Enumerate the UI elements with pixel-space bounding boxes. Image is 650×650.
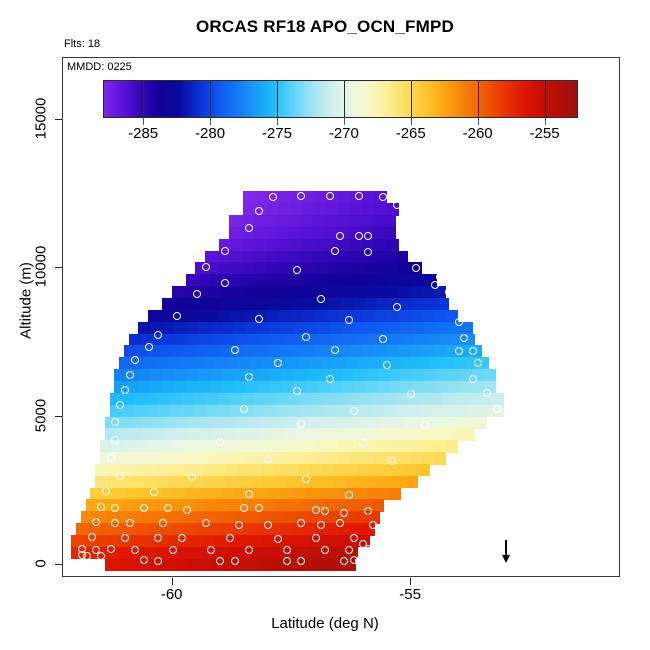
heatmap-cell [279,452,292,464]
heatmap-cell [272,334,285,346]
heatmap-cell [431,393,444,405]
heatmap-cell [410,452,423,464]
heatmap-cell [396,405,409,417]
heatmap-cell [331,334,344,346]
x-axis-title: Latitude (deg N) [0,615,650,632]
heatmap-cell [319,559,332,571]
heatmap-cell [198,274,211,286]
sample-point-marker [374,534,382,542]
heatmap-cell [400,298,413,310]
colorbar-tick-label: -285 [128,125,158,142]
heatmap-cell [210,298,223,310]
heatmap-cell [338,203,351,215]
heatmap-cell [348,393,361,405]
heatmap-cell [358,464,371,476]
sample-point-marker [245,373,253,381]
heatmap-cell [327,262,340,274]
heatmap-cell [436,369,449,381]
heatmap-cell [143,476,156,488]
heatmap-cell [374,440,387,452]
heatmap-cell [319,428,332,440]
heatmap-cell [172,452,185,464]
colorbar-divider [210,80,211,118]
sample-point-marker [255,504,263,512]
colorbar-divider [143,80,144,118]
heatmap-cell [441,357,454,369]
heatmap-cell [172,286,185,298]
heatmap-cell [274,464,287,476]
heatmap-cell [195,440,208,452]
heatmap-cell [403,417,416,429]
heatmap-cell [327,203,340,215]
sample-point-marker [464,442,472,450]
heatmap-cell [400,322,413,334]
heatmap-cell [162,369,175,381]
heatmap-cell [250,464,263,476]
heatmap-cell [327,310,340,322]
heatmap-cell [129,417,142,429]
heatmap-cell [141,511,154,523]
heatmap-cell [281,298,294,310]
heatmap-cell [386,440,399,452]
heatmap-cell [412,369,425,381]
heatmap-cell [386,286,399,298]
heatmap-cell [374,203,387,215]
heatmap-cell [269,274,282,286]
heatmap-cell [129,334,142,346]
heatmap-cell [141,417,154,429]
heatmap-cell [291,345,304,357]
heatmap-cell [248,334,261,346]
heatmap-cell [284,417,297,429]
heatmap-cell [374,262,387,274]
heatmap-cell [181,405,194,417]
heatmap-cell [121,499,134,511]
heatmap-cell [205,393,218,405]
heatmap-cell [443,405,456,417]
heatmap-cell [262,357,275,369]
heatmap-cell [257,488,270,500]
heatmap-cell [276,227,289,239]
heatmap-cell [336,405,349,417]
sample-point-marker [245,546,253,554]
heatmap-cell [300,393,313,405]
heatmap-cell [398,440,411,452]
heatmap-cell [312,393,325,405]
heatmap-cell [374,286,387,298]
heatmap-cell [200,559,213,571]
heatmap-cell [207,310,220,322]
sample-point-marker [264,521,272,529]
flights-annotation: Flts: 18 [64,38,100,50]
heatmap-cell [214,476,227,488]
heatmap-cell [155,464,168,476]
heatmap-cell [365,488,378,500]
heatmap-cell [269,322,282,334]
heatmap-cell [377,274,390,286]
heatmap-cell [369,357,382,369]
heatmap-cell [255,286,268,298]
heatmap-cell [136,452,149,464]
heatmap-cell [183,440,196,452]
heatmap-cell [253,215,266,227]
heatmap-cell [365,381,378,393]
heatmap-cell [393,476,406,488]
heatmap-cell [257,298,270,310]
heatmap-cell [391,417,404,429]
heatmap-cell [310,464,323,476]
heatmap-cell [214,357,227,369]
colorbar[interactable] [103,80,578,118]
sample-point-marker [202,263,210,271]
heatmap-cell [212,417,225,429]
heatmap-cell [398,310,411,322]
heatmap-cell [276,251,289,263]
heatmap-cell [279,203,292,215]
heatmap-cell [434,345,447,357]
heatmap-cell [288,227,301,239]
heatmap-cell [424,369,437,381]
sample-point-marker [293,266,301,274]
heatmap-cell [279,523,292,535]
sample-point-marker [398,217,406,225]
heatmap-cell [329,298,342,310]
heatmap-cell [389,274,402,286]
heatmap-cell [272,511,285,523]
heatmap-cell [334,476,347,488]
sample-point-marker [355,557,363,565]
heatmap-cell [224,511,237,523]
heatmap-cell [260,417,273,429]
heatmap-cell [317,274,330,286]
sample-point-marker [231,346,239,354]
heatmap-cell [255,191,268,203]
heatmap-cell [145,405,158,417]
colorbar-divider [478,80,479,118]
heatmap-cell [284,334,297,346]
heatmap-cell [360,405,373,417]
heatmap-cell [307,428,320,440]
heatmap-cell [315,345,328,357]
heatmap-cell [300,405,313,417]
heatmap-cell [217,393,230,405]
heatmap-cell [374,239,387,251]
heatmap-cell [422,440,435,452]
sample-point-marker [88,533,96,541]
colorbar-tick-label: -255 [530,125,560,142]
heatmap-cell [181,393,194,405]
heatmap-cell [279,440,292,452]
heatmap-cell [231,452,244,464]
heatmap-cell [141,428,154,440]
heatmap-cell [162,322,175,334]
heatmap-cell [288,251,301,263]
heatmap-cell [412,274,425,286]
heatmap-cell [267,239,280,251]
heatmap-cell [231,440,244,452]
heatmap-cell [150,381,163,393]
heatmap-cell [377,488,390,500]
sample-point-marker [426,253,434,261]
heatmap-cell [384,405,397,417]
heatmap-cell [446,440,459,452]
heatmap-cell [243,286,256,298]
heatmap-cell [162,381,175,393]
heatmap-cell [272,428,285,440]
sample-point-marker [312,506,320,514]
heatmap-cell [307,417,320,429]
heatmap-cell [226,476,239,488]
heatmap-cell [386,262,399,274]
heatmap-cell [131,464,144,476]
heatmap-cell [183,345,196,357]
heatmap-cell [183,452,196,464]
heatmap-cell [327,452,340,464]
heatmap-cell [338,239,351,251]
heatmap-cell [312,227,325,239]
y-axis-tick-label: 0 [33,533,50,593]
heatmap-cell [150,369,163,381]
heatmap-cell [119,357,132,369]
heatmap-cell [243,345,256,357]
heatmap-cell [448,381,461,393]
heatmap-cell [341,369,354,381]
heatmap-cell [303,452,316,464]
colorbar-tick-label: -280 [195,125,225,142]
heatmap-cell [346,464,359,476]
heatmap-cell [257,274,270,286]
heatmap-cell [348,251,361,263]
heatmap-cell [400,274,413,286]
heatmap-cell [267,286,280,298]
plot-root: ORCAS RF18 APO_OCN_FMPD Flts: 18 MMDD: 0… [0,0,650,650]
heatmap-cell [439,334,452,346]
heatmap-cell [455,405,468,417]
heatmap-cell [186,298,199,310]
arrow-head [502,555,510,563]
heatmap-cell [436,381,449,393]
heatmap-cell [224,334,237,346]
heatmap-cell [377,381,390,393]
heatmap-cell [224,428,237,440]
heatmap-cell [191,547,204,559]
heatmap-cell [174,322,187,334]
heatmap-cell [439,417,452,429]
heatmap-cell [384,227,397,239]
heatmap-cell [124,452,137,464]
heatmap-cell [324,405,337,417]
heatmap-cell [248,559,261,571]
heatmap-cell [279,262,292,274]
heatmap-cell [291,239,304,251]
sample-point-marker [350,407,358,415]
heatmap-cell [203,357,216,369]
heatmap-cell [203,464,216,476]
heatmap-cell [172,440,185,452]
heatmap-cell [374,345,387,357]
page-title: ORCAS RF18 APO_OCN_FMPD [0,17,650,37]
heatmap-cell [424,322,437,334]
heatmap-cell [245,322,258,334]
heatmap-cell [255,345,268,357]
sample-point-marker [293,387,301,395]
heatmap-cell [243,452,256,464]
heatmap-cell [436,322,449,334]
heatmap-cell [315,310,328,322]
heatmap-cell [126,488,139,500]
heatmap-cell [422,452,435,464]
heatmap-cell [422,310,435,322]
sample-point-marker [455,318,463,326]
heatmap-cell [160,310,173,322]
heatmap-cell [250,535,263,547]
heatmap-cell [253,393,266,405]
heatmap-cell [124,440,137,452]
sample-point-marker [188,473,196,481]
heatmap-cell [267,440,280,452]
heatmap-cell [381,476,394,488]
heatmap-cell [138,381,151,393]
y-axis-tick-label: 15000 [33,89,50,149]
heatmap-cell [288,215,301,227]
heatmap-cell [303,239,316,251]
heatmap-cell [353,488,366,500]
heatmap-cell [214,464,227,476]
heatmap-cell [443,393,456,405]
heatmap-cell [229,251,242,263]
heatmap-cell [355,417,368,429]
heatmap-cell [391,428,404,440]
heatmap-cell [222,381,235,393]
heatmap-cell [303,345,316,357]
heatmap-cell [334,464,347,476]
heatmap-cell [360,393,373,405]
heatmap-cell [222,369,235,381]
heatmap-cell [243,440,256,452]
sample-point-marker [183,506,191,514]
heatmap-cell [300,251,313,263]
heatmap-cell [169,405,182,417]
heatmap-cell [195,345,208,357]
heatmap-cell [210,381,223,393]
heatmap-cell [76,523,89,535]
heatmap-cell [362,286,375,298]
heatmap-cell [327,286,340,298]
heatmap-cell [288,499,301,511]
heatmap-cell [365,322,378,334]
heatmap-cell [143,464,156,476]
heatmap-cell [260,334,273,346]
x-axis-tick-label: -55 [399,586,421,603]
heatmap-cell [188,428,201,440]
heatmap-cell [136,440,149,452]
heatmap-cell [164,417,177,429]
heatmap-cell [203,476,216,488]
heatmap-cell [372,227,385,239]
heatmap-cell [195,452,208,464]
heatmap-cell [183,523,196,535]
heatmap-cell [238,476,251,488]
heatmap-cell [455,393,468,405]
heatmap-cell [176,428,189,440]
heatmap-cell [186,381,199,393]
heatmap-cell [167,476,180,488]
heatmap-cell [384,393,397,405]
heatmap-cell [305,274,318,286]
heatmap-cell [343,334,356,346]
sample-point-marker [393,303,401,311]
heatmap-cell [398,345,411,357]
heatmap-cell [188,417,201,429]
heatmap-cell [417,464,430,476]
heatmap-cell [372,393,385,405]
sample-point-marker [302,333,310,341]
heatmap-cell [355,334,368,346]
heatmap-cell [279,239,292,251]
heatmap-cell [322,476,335,488]
heatmap-cell [257,381,270,393]
heatmap-cell [279,310,292,322]
heatmap-cell [234,274,247,286]
heatmap-cell [381,464,394,476]
heatmap-cell [164,428,177,440]
heatmap-cell [136,523,149,535]
sample-point-marker [355,192,363,200]
heatmap-cell [174,298,187,310]
heatmap-cell [191,357,204,369]
heatmap-cell [448,369,461,381]
heatmap-cell [341,381,354,393]
sample-point-marker [193,290,201,298]
heatmap-cell [138,369,151,381]
heatmap-cell [212,511,225,523]
heatmap-cell [265,393,278,405]
heatmap-cell [207,345,220,357]
heatmap-cell [408,405,421,417]
heatmap-cell [362,191,375,203]
heatmap-cell [265,405,278,417]
sample-point-marker [131,356,139,364]
colorbar-tick-labels: -285-280-275-270-265-260-255 [0,119,650,141]
sample-point-marker [331,346,339,354]
heatmap-cell [284,428,297,440]
heatmap-cell [279,286,292,298]
y-axis-tick [55,564,62,565]
heatmap-cell [315,452,328,464]
heatmap-cell [338,345,351,357]
heatmap-cell [405,464,418,476]
heatmap-cell [243,262,256,274]
sample-point-marker [121,386,129,394]
heatmap-cell [198,488,211,500]
colorbar-tick-label: -275 [262,125,292,142]
heatmap-cell [248,417,261,429]
heatmap-cell [219,262,232,274]
heatmap-cell [222,488,235,500]
heatmap-cell [188,559,201,571]
heatmap-cell [389,369,402,381]
heatmap-cell [267,310,280,322]
sample-point-marker [231,557,239,565]
heatmap-cell [257,322,270,334]
heatmap-cell [243,523,256,535]
heatmap-cell [186,369,199,381]
heatmap-cell [420,405,433,417]
heatmap-cell [286,476,299,488]
heatmap-cell [191,535,204,547]
heatmap-cell [336,393,349,405]
heatmap-cell [272,417,285,429]
